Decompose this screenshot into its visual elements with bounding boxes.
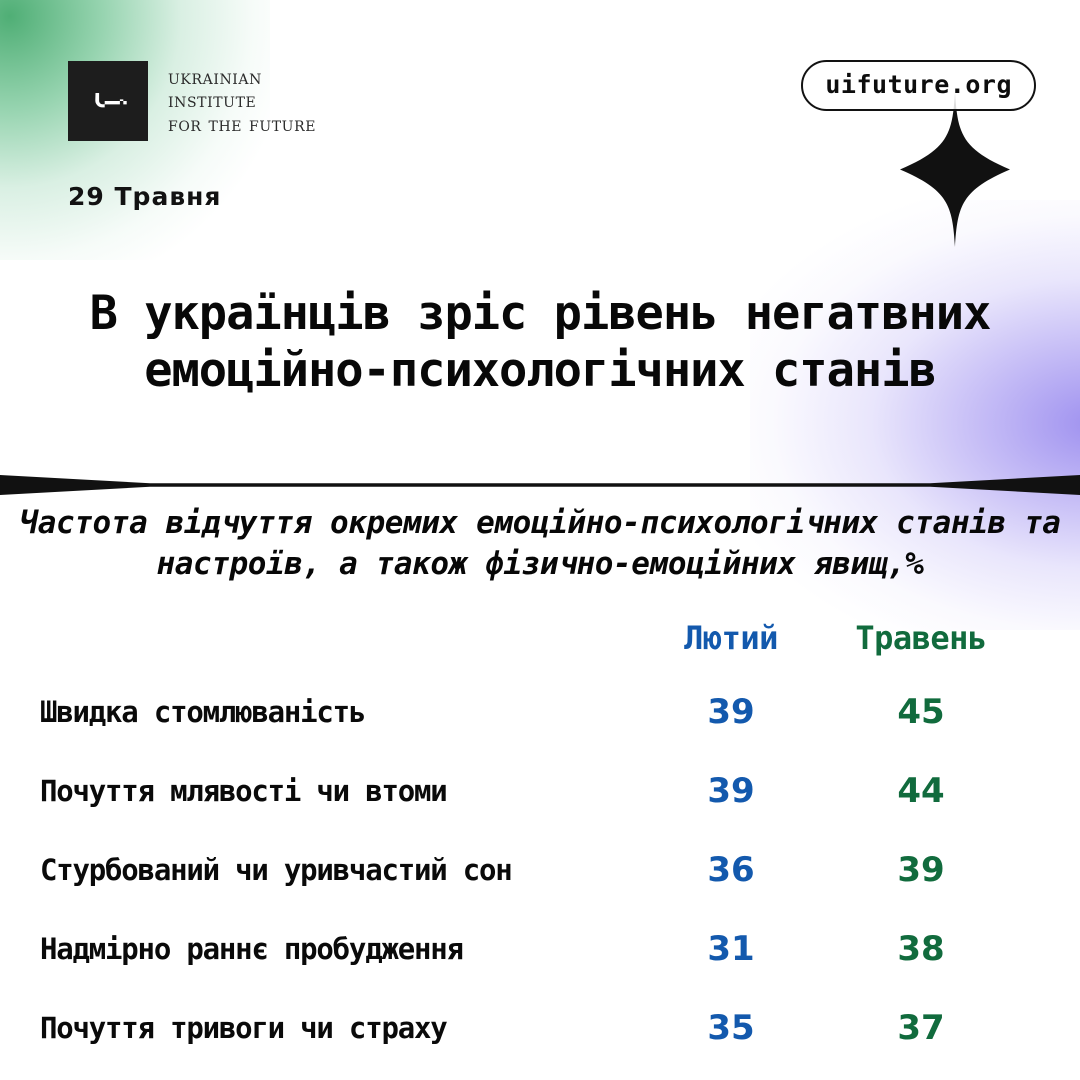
data-table: Лютий Травень Швидка стомлюваність 39 45… (0, 604, 1080, 1067)
infographic-canvas: Ukrainian Institute for the Future 29 Тр… (0, 0, 1080, 1080)
wordmark-line-1: Ukrainian (168, 66, 316, 90)
row-value-may: 44 (826, 771, 1016, 811)
row-value-february: 39 (636, 771, 826, 811)
table-row: Почуття млявості чи втоми 39 44 (0, 751, 1080, 830)
row-value-may: 45 (826, 692, 1016, 732)
table-row: Швидка стомлюваність 39 45 (0, 672, 1080, 751)
website-url-badge[interactable]: uifuture.org (801, 60, 1036, 111)
column-header-february: Лютий (636, 619, 826, 657)
brand-wordmark: Ukrainian Institute for the Future (168, 66, 316, 137)
row-value-may: 39 (826, 850, 1016, 890)
four-point-star-icon (900, 92, 1010, 247)
row-label: Почуття млявості чи втоми (0, 774, 636, 808)
date-label: 29 Травня (68, 182, 221, 211)
row-value-may: 38 (826, 929, 1016, 969)
row-value-february: 39 (636, 692, 826, 732)
column-header-may: Травень (826, 619, 1016, 657)
key-icon (68, 61, 148, 141)
table-row: Стурбований чи уривчастий сон 36 39 (0, 830, 1080, 909)
row-label: Швидка стомлюваність (0, 695, 636, 729)
row-value-february: 36 (636, 850, 826, 890)
row-label: Стурбований чи уривчастий сон (0, 853, 636, 887)
wordmark-line-3: for the Future (168, 113, 316, 137)
brand-logo[interactable]: Ukrainian Institute for the Future (68, 61, 316, 141)
table-row: Почуття тривоги чи страху 35 37 (0, 988, 1080, 1067)
row-label: Почуття тривоги чи страху (0, 1011, 636, 1045)
row-value-may: 37 (826, 1008, 1016, 1048)
wedge-divider (0, 473, 1080, 497)
wordmark-line-2: Institute (168, 89, 316, 113)
chart-subtitle: Частота відчуття окремих емоційно-психол… (0, 503, 1080, 585)
table-row: Надмірно раннє пробудження 31 38 (0, 909, 1080, 988)
row-value-february: 35 (636, 1008, 826, 1048)
table-header-row: Лютий Травень (0, 604, 1080, 672)
page-title: В українців зріс рівень негатвних емоцій… (0, 285, 1080, 400)
row-label: Надмірно раннє пробудження (0, 932, 636, 966)
row-value-february: 31 (636, 929, 826, 969)
